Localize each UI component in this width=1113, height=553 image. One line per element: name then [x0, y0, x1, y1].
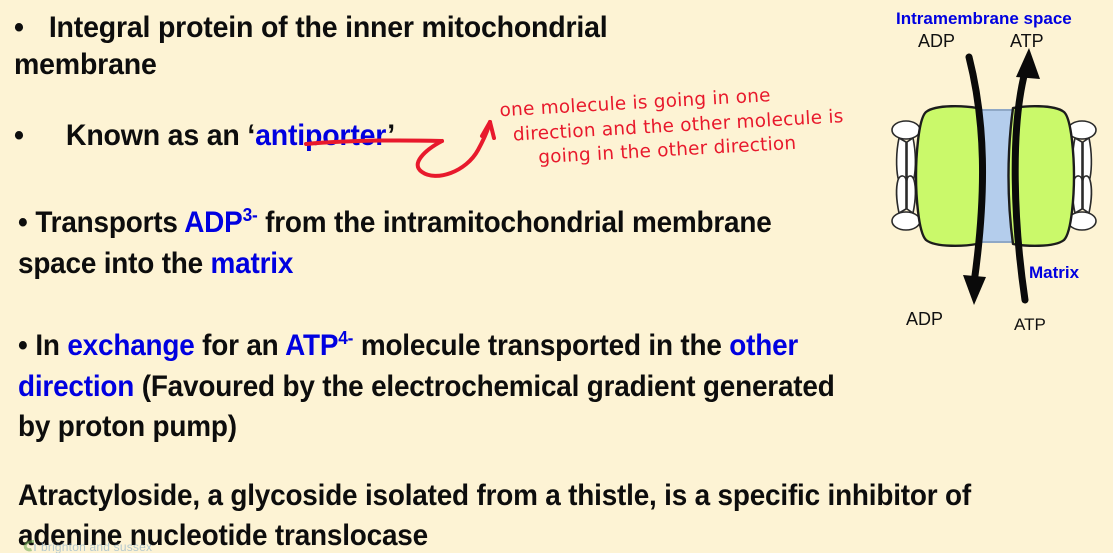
adp-arrowhead-icon — [963, 275, 986, 305]
diagram-label-adp-top: ADP — [918, 31, 955, 52]
bullet-item-3: • Transports ADP3- from the intramitocho… — [18, 202, 818, 285]
atp-arrowhead-icon — [1016, 48, 1040, 79]
bullet-4-part4: (Favoured by the electrochemical gradien… — [18, 370, 835, 444]
bullet-4-part1: In — [35, 329, 67, 362]
bullet-marker: • — [14, 119, 24, 152]
phospholipid-tail-icon — [897, 176, 906, 213]
bullet-4-part2: for an — [195, 329, 285, 362]
bullet-item-4: • In exchange for an ATP4- molecule tran… — [18, 326, 874, 448]
bullet-2-posttext: ’ — [387, 119, 395, 152]
atp-charge: 4- — [338, 327, 353, 348]
bullet-marker: • — [18, 329, 28, 362]
phospholipid-tail-icon — [1083, 176, 1091, 213]
adp-term: ADP — [184, 206, 242, 239]
bullet-item-1: • Integral protein of the inner mitochon… — [14, 10, 736, 83]
antiporter-term: antiporter — [255, 119, 387, 152]
bullet-4-part3: molecule transported in the — [353, 329, 729, 362]
exchange-term: exchange — [67, 329, 194, 362]
closing-paragraph: Atractyloside, a glycoside isolated from… — [18, 476, 1004, 553]
diagram-label-adp-bottom: ADP — [906, 309, 943, 330]
matrix-term: matrix — [211, 247, 294, 280]
membrane-transporter-graphic — [874, 0, 1113, 350]
diagram-label-intramembrane-space: Intramembrane space — [896, 9, 1072, 29]
adp-charge: 3- — [243, 204, 258, 225]
transporter-protein-left-lobe — [916, 106, 982, 246]
bullet-item-2: • Known as an ‘antiporter’ — [14, 118, 508, 154]
watermark-text: brighton and sussex — [41, 541, 152, 553]
translocase-diagram: Intramembrane space ADP ATP Matrix ADP A… — [874, 0, 1113, 350]
phospholipid-head-icon — [892, 212, 920, 230]
atp-term: ATP — [285, 329, 338, 362]
bullet-1-text: Integral protein of the inner mitochondr… — [14, 11, 608, 81]
diagram-label-atp-bottom: ATP — [1014, 315, 1046, 335]
diagram-label-atp-top: ATP — [1010, 31, 1044, 52]
slide-text-column: • Integral protein of the inner mitochon… — [0, 0, 900, 553]
bullet-3-part1: Transports — [35, 206, 184, 239]
bullet-2-pretext: Known as an ‘ — [66, 119, 255, 152]
institution-watermark: brighton and sussex — [22, 537, 152, 553]
bullet-marker: • — [14, 11, 24, 44]
bullet-marker: • — [18, 206, 28, 239]
watermark-logo-icon — [22, 539, 37, 553]
phospholipid-tail-icon — [907, 176, 915, 213]
phospholipid-head-icon — [892, 121, 920, 139]
diagram-label-matrix: Matrix — [1029, 263, 1079, 283]
slide-canvas: • Integral protein of the inner mitochon… — [0, 0, 1113, 553]
